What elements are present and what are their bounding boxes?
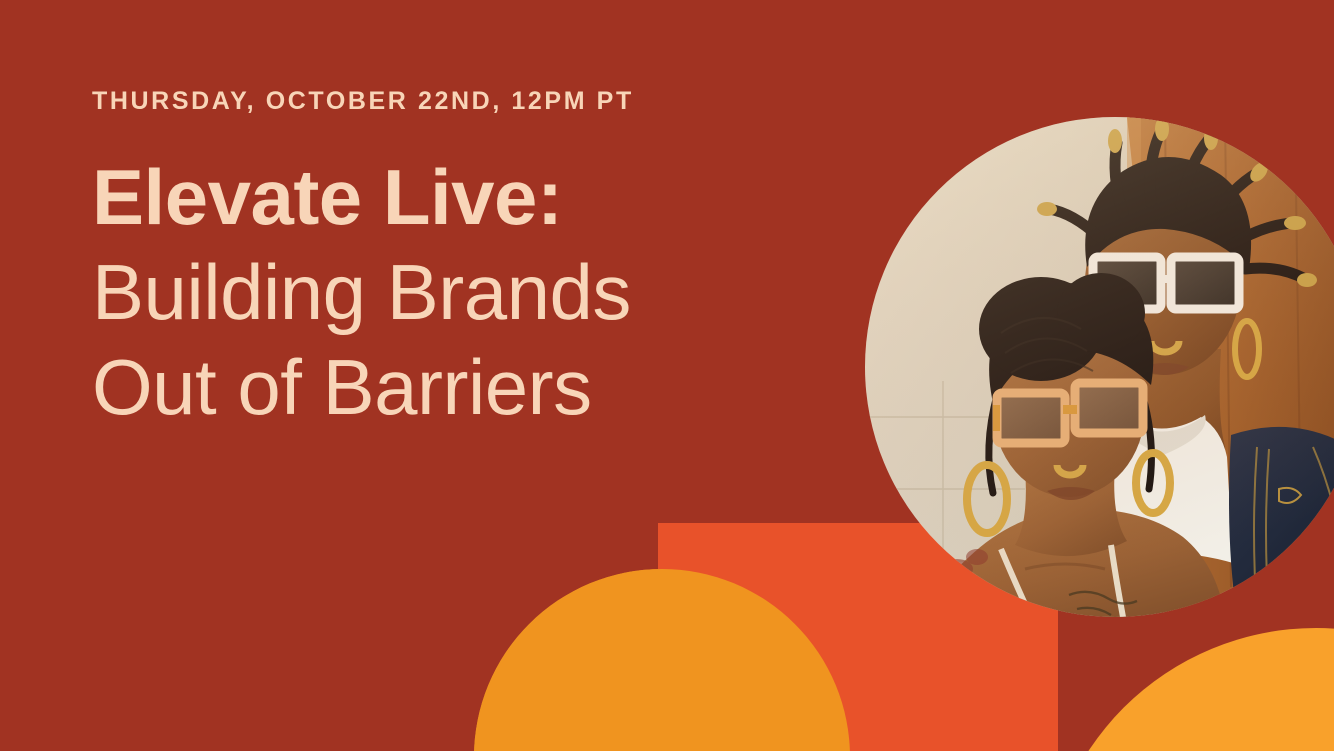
promo-banner: THURSDAY, OCTOBER 22ND, 12PM PT Elevate … bbox=[0, 0, 1334, 751]
amber-circle-right bbox=[1044, 628, 1334, 751]
page-title: Elevate Live: Building Brands Out of Bar… bbox=[92, 150, 882, 435]
amber-circle-center bbox=[474, 569, 850, 751]
headline-line-2: Building Brands bbox=[92, 245, 882, 340]
event-date-eyebrow: THURSDAY, OCTOBER 22ND, 12PM PT bbox=[92, 88, 882, 116]
headline-line-3: Out of Barriers bbox=[92, 340, 882, 435]
copy-block: THURSDAY, OCTOBER 22ND, 12PM PT Elevate … bbox=[92, 88, 882, 435]
headline-line-1: Elevate Live: bbox=[92, 150, 882, 245]
